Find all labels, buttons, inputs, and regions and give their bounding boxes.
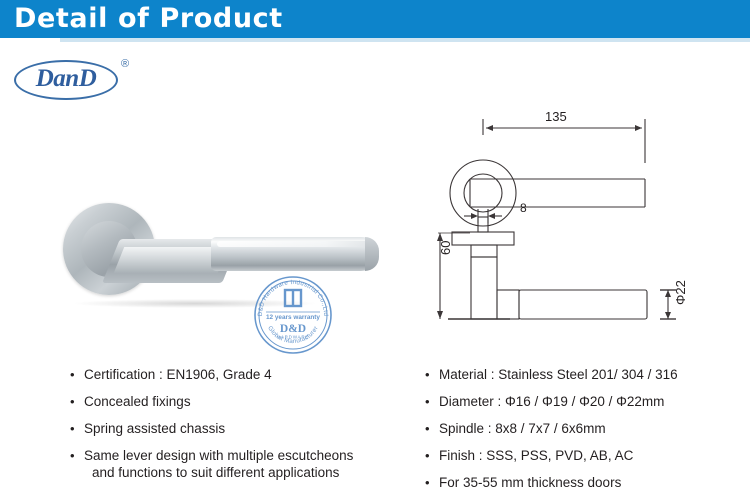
- list-item: Spring assisted chassis: [70, 420, 400, 437]
- spec-text: Diameter : Φ16 / Φ19 / Φ20 / Φ22mm: [439, 394, 664, 409]
- spec-text: Same lever design with multiple escutche…: [84, 448, 353, 463]
- handle-lever-end-cap: [365, 237, 379, 271]
- dimension-label-height: 60: [438, 241, 453, 255]
- specs-list-right: Material : Stainless Steel 201/ 304 / 31…: [425, 366, 745, 501]
- list-item: Diameter : Φ16 / Φ19 / Φ20 / Φ22mm: [425, 393, 745, 410]
- watermark-seal: D&D Hardware Industrial Co.,Ltd Global M…: [252, 274, 334, 356]
- handle-lever-highlight: [217, 241, 371, 247]
- list-item: For 35-55 mm thickness doors: [425, 474, 745, 491]
- spec-text: Spindle : 8x8 / 7x7 / 6x6mm: [439, 421, 606, 436]
- dimension-label-lever-diameter: Φ22: [673, 280, 688, 305]
- spec-text: Material : Stainless Steel 201/ 304 / 31…: [439, 367, 678, 382]
- spec-text: Concealed fixings: [84, 394, 191, 409]
- list-item: Material : Stainless Steel 201/ 304 / 31…: [425, 366, 745, 383]
- specs-list-left: Certification : EN1906, Grade 4 Conceale…: [70, 366, 400, 491]
- dimension-label-length: 135: [545, 109, 567, 124]
- list-item: Spindle : 8x8 / 7x7 / 6x6mm: [425, 420, 745, 437]
- watermark-seal-graphic: D&D Hardware Industrial Co.,Ltd Global M…: [252, 274, 334, 356]
- technical-drawing: 135 8 60 Φ22: [430, 105, 730, 345]
- logo-text: DanD: [14, 60, 118, 100]
- spec-text: Finish : SSS, PSS, PVD, AB, AC: [439, 448, 633, 463]
- list-item: Same lever design with multiple escutche…: [70, 447, 400, 481]
- list-item: Certification : EN1906, Grade 4: [70, 366, 400, 383]
- spec-text-continuation: and functions to suit different applicat…: [92, 464, 400, 481]
- header-underline-rule: [60, 38, 750, 42]
- seal-brand-sub: HARDWARE: [277, 335, 309, 340]
- list-item: Concealed fixings: [70, 393, 400, 410]
- spec-text: For 35-55 mm thickness doors: [439, 475, 621, 490]
- page-title: Detail of Product: [14, 1, 283, 37]
- dimension-label-rose-thickness: 8: [520, 201, 527, 215]
- registered-trademark-icon: ®: [121, 58, 129, 70]
- seal-brand: D&D: [280, 323, 306, 335]
- seal-warranty-text: 12 years warranty: [266, 314, 320, 321]
- brand-logo: DanD ®: [14, 56, 144, 102]
- list-item: Finish : SSS, PSS, PVD, AB, AC: [425, 447, 745, 464]
- spec-text: Spring assisted chassis: [84, 421, 225, 436]
- spec-text: Certification : EN1906, Grade 4: [84, 367, 272, 382]
- technical-drawing-graphic: [430, 105, 730, 345]
